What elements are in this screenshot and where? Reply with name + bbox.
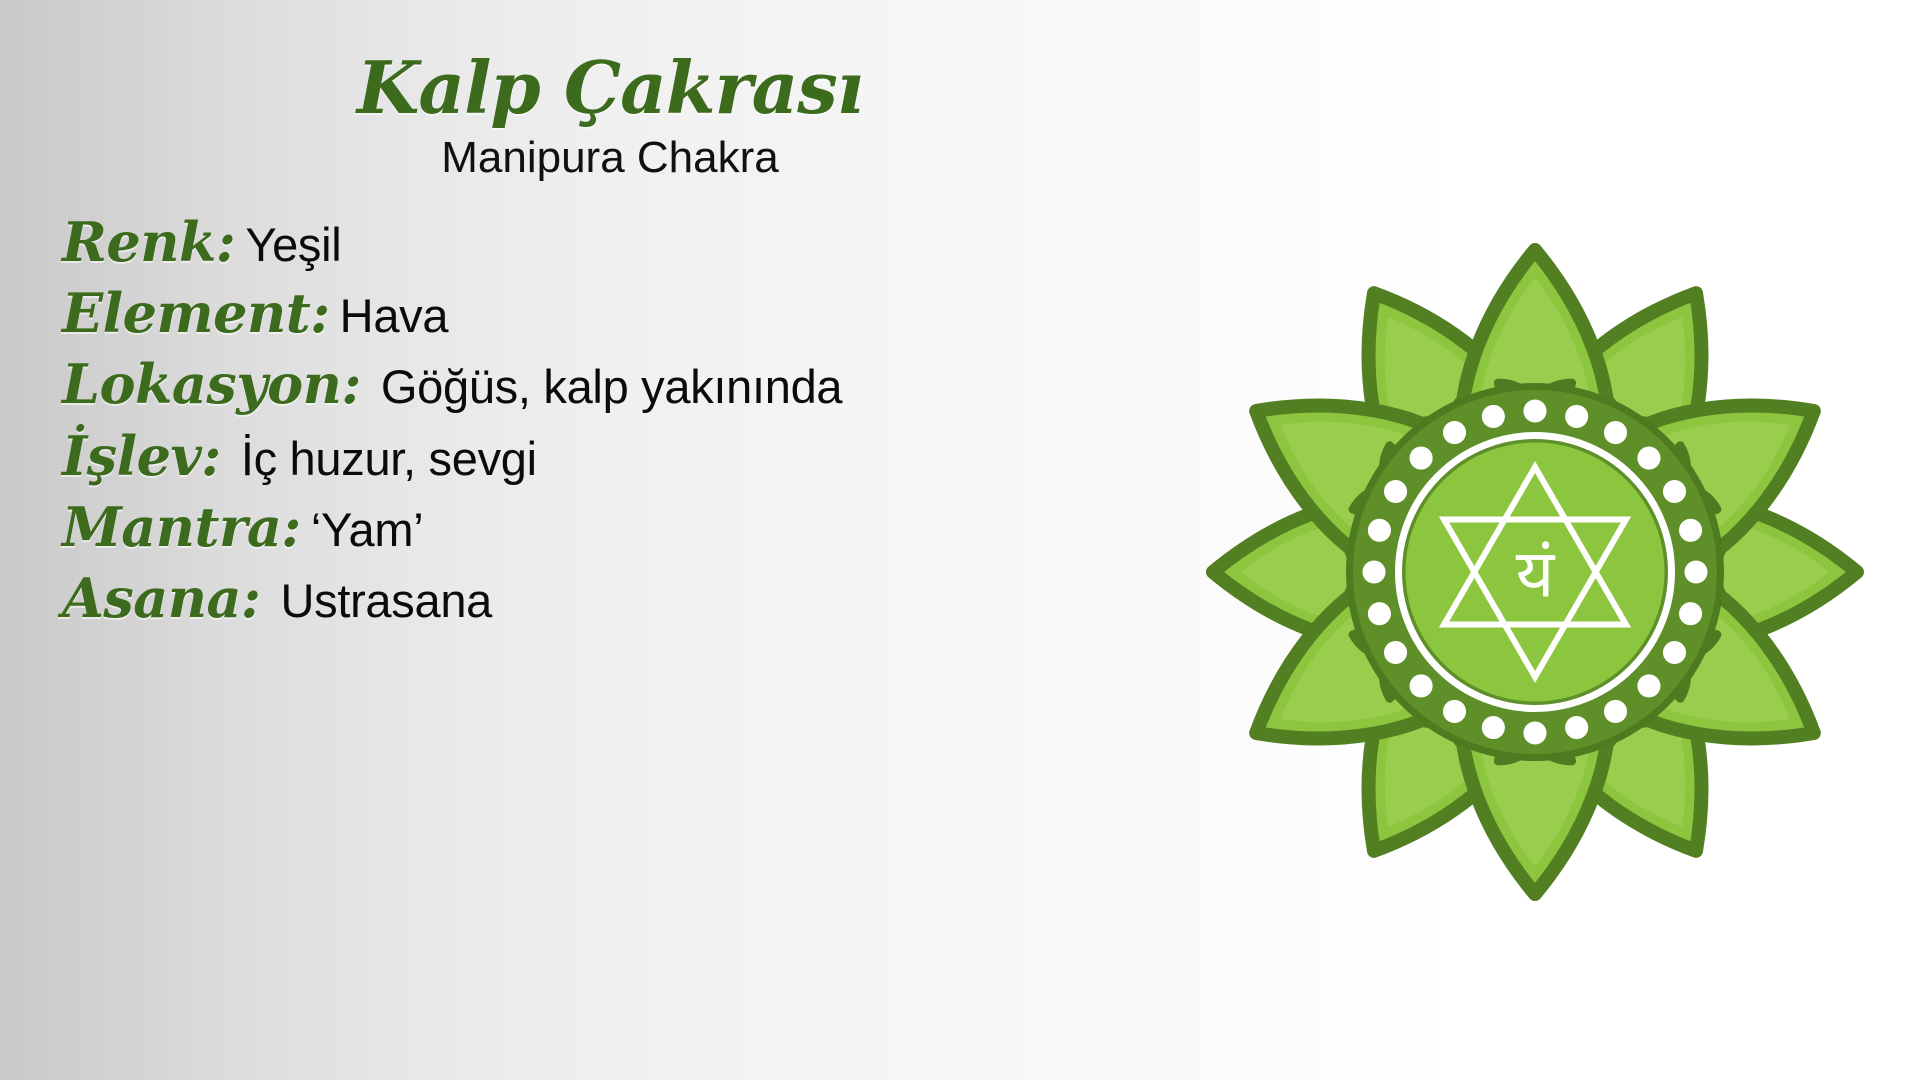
chakra-svg: यं xyxy=(1185,222,1885,922)
slide-canvas: Kalp Çakrası Manipura Chakra Renk:Yeşil … xyxy=(0,0,1920,1080)
attribute-row-mantra: Mantra:‘Yam’ xyxy=(62,499,1242,556)
attribute-value-lokasyon: Göğüs, kalp yakınında xyxy=(381,360,842,413)
attribute-value-mantra: ‘Yam’ xyxy=(311,503,424,556)
attribute-list: Renk:Yeşil Element:Hava Lokasyon:Göğüs, … xyxy=(62,214,1242,641)
seed-syllable-text: यं xyxy=(1516,535,1556,613)
attribute-value-islev: İç huzur, sevgi xyxy=(241,432,537,485)
header: Kalp Çakrası Manipura Chakra xyxy=(0,52,1220,180)
attribute-value-element: Hava xyxy=(340,289,449,342)
attribute-value-asana: Ustrasana xyxy=(280,574,492,627)
page-title: Kalp Çakrası xyxy=(0,52,1220,124)
attribute-row-islev: İşlev:İç huzur, sevgi xyxy=(62,428,1242,485)
attribute-label-element: Element: xyxy=(62,281,330,345)
attribute-value-renk: Yeşil xyxy=(245,218,341,271)
attribute-row-asana: Asana:Ustrasana xyxy=(62,570,1242,627)
attribute-label-asana: Asana: xyxy=(62,566,260,630)
page-subtitle: Manipura Chakra xyxy=(0,136,1220,180)
attribute-label-renk: Renk: xyxy=(62,210,235,274)
attribute-label-islev: İşlev: xyxy=(62,424,221,488)
heart-chakra-lotus-icon: यं xyxy=(1185,222,1885,922)
attribute-row-element: Element:Hava xyxy=(62,285,1242,342)
attribute-row-renk: Renk:Yeşil xyxy=(62,214,1242,271)
attribute-row-lokasyon: Lokasyon:Göğüs, kalp yakınında xyxy=(62,356,1242,413)
attribute-label-lokasyon: Lokasyon: xyxy=(62,352,361,416)
attribute-label-mantra: Mantra: xyxy=(62,495,301,559)
